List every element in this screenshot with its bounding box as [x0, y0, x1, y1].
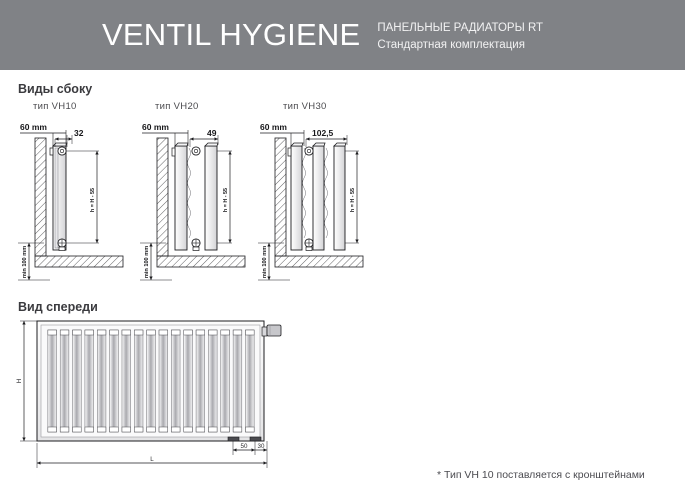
dimension-wall-gap-vh20 [142, 130, 188, 146]
header-subtitle-line-1: ПАНЕЛЬНЫЕ РАДИАТОРЫ RT [377, 20, 543, 37]
radiator-fin-top-cap [110, 330, 119, 335]
radiator-fin-top-cap [147, 330, 156, 335]
type-label-vh30: тип VH30 [283, 101, 327, 112]
dimension-length-front [37, 443, 267, 468]
dimension-label-depth-vh20: 49 [207, 128, 217, 138]
side-view-vh10: 60 mm 32 h = H - 55 min 100 mm [18, 122, 123, 280]
dimension-depth-vh30 [306, 135, 347, 147]
radiator-fin-top-cap [246, 330, 255, 335]
radiator-fin-top-cap [196, 330, 205, 335]
valve-connector [262, 325, 281, 336]
dimension-label-height-front: H [16, 379, 23, 383]
dimension-label-floor-gap-vh30: min 100 mm [262, 246, 268, 278]
radiator-fin [208, 330, 217, 432]
header-subtitle-line-2: Стандартная комплектация [377, 37, 543, 54]
dimension-wall-gap-vh30 [260, 130, 304, 146]
radiator-fin-bottom-cap [184, 427, 193, 432]
radiator-fin-bottom-cap [110, 427, 119, 432]
radiator-fin-top-cap [159, 330, 168, 335]
radiator-fin-top-cap [171, 330, 180, 335]
radiator-fin [73, 330, 82, 432]
radiator-fin-bottom-cap [221, 427, 230, 432]
radiator-fin-bottom-cap [73, 427, 82, 432]
front-view-heading: Вид спереди [18, 300, 98, 314]
radiator-fin-top-cap [184, 330, 193, 335]
radiator-fin-bottom-cap [147, 427, 156, 432]
radiator-fin-bottom-cap [246, 427, 255, 432]
radiator-fin-bottom-cap [171, 427, 180, 432]
radiator-fin-top-cap [97, 330, 106, 335]
radiator-fin [60, 330, 69, 432]
radiator-fin-bottom-cap [97, 427, 106, 432]
radiator-fin [196, 330, 205, 432]
page-header: VENTIL HYGIENE ПАНЕЛЬНЫЕ РАДИАТОРЫ RT Ст… [0, 0, 685, 70]
dimension-floor-gap-vh10 [18, 243, 50, 280]
type-label-vh20: тип VH20 [155, 101, 199, 112]
front-view-fins [48, 330, 254, 432]
footnote-text: * Тип VH 10 поставляется с кронштейнами [437, 469, 645, 481]
radiator-fin-bottom-cap [159, 427, 168, 432]
radiator-fin-bottom-cap [134, 427, 143, 432]
dimension-wall-gap-vh10 [20, 130, 66, 146]
radiator-panel-vh10 [50, 143, 67, 251]
dimension-label-wall-gap-vh10: 60 mm [20, 122, 47, 132]
dimension-label-height-vh30: h = H - 55 [350, 188, 356, 212]
radiator-fin-top-cap [73, 330, 82, 335]
radiator-fin [134, 330, 143, 432]
dimension-bottom-small [233, 441, 267, 455]
radiator-fin-top-cap [208, 330, 217, 335]
radiator-fin [48, 330, 57, 432]
dimension-depth-vh10 [55, 135, 72, 147]
dimension-label-wall-gap-vh20: 60 mm [142, 122, 169, 132]
technical-drawing: 60 mm 32 h = H - 55 min 100 mm [0, 0, 685, 500]
radiator-fin-top-cap [85, 330, 94, 335]
header-subtitle-block: ПАНЕЛЬНЫЕ РАДИАТОРЫ RT Стандартная компл… [377, 20, 543, 54]
wall-vh10 [35, 138, 123, 267]
radiator-fin-top-cap [221, 330, 230, 335]
dimension-height-vh30 [345, 151, 359, 243]
page-title: VENTIL HYGIENE [102, 18, 360, 52]
side-view-vh20: 60 mm 49 h = H - 55 min 100 mm [140, 122, 245, 280]
bottom-connections [228, 437, 261, 441]
radiator-fin-top-cap [48, 330, 57, 335]
dimension-label-length-front: L [150, 456, 154, 463]
radiator-fin [171, 330, 180, 432]
radiator-fin [221, 330, 230, 432]
dimension-label-floor-gap-vh20: min 100 mm [144, 246, 150, 278]
radiator-fin-bottom-cap [48, 427, 57, 432]
radiator-fin [159, 330, 168, 432]
radiator-fin-bottom-cap [233, 427, 242, 432]
dimension-label-bottom-30: 30 [258, 443, 265, 450]
dimension-label-depth-vh30: 102,5 [312, 128, 334, 138]
radiator-fin-top-cap [60, 330, 69, 335]
radiator-fin [246, 330, 255, 432]
radiator-fin-bottom-cap [208, 427, 217, 432]
radiator-panel-vh20 [172, 143, 218, 251]
radiator-fin [184, 330, 193, 432]
radiator-fin-top-cap [134, 330, 143, 335]
radiator-panel-vh30 [288, 143, 346, 251]
dimension-floor-gap-vh30 [258, 243, 290, 280]
wall-vh20 [157, 138, 245, 267]
side-views-heading: Виды сбоку [18, 82, 92, 96]
radiator-fin-bottom-cap [122, 427, 131, 432]
dimension-label-bottom-50: 50 [241, 443, 248, 450]
dimension-label-height-vh10: h = H - 55 [90, 188, 96, 212]
dimension-label-wall-gap-vh30: 60 mm [260, 122, 287, 132]
radiator-fin-bottom-cap [60, 427, 69, 432]
dimension-floor-gap-vh20 [140, 243, 172, 280]
dimension-depth-vh20 [190, 135, 218, 147]
dimension-height-vh20 [217, 151, 232, 243]
dimension-label-depth-vh10: 32 [74, 128, 84, 138]
wall-vh30 [275, 138, 363, 267]
front-view: H 50 30 L [16, 321, 281, 468]
radiator-fin [233, 330, 242, 432]
radiator-fin [110, 330, 119, 432]
side-view-vh30: 60 mm 102,5 h = H - 55 min 100 mm [258, 122, 363, 280]
radiator-fin [97, 330, 106, 432]
type-label-vh10: тип VH10 [33, 101, 77, 112]
dimension-label-height-vh20: h = H - 55 [223, 188, 229, 212]
header-content: VENTIL HYGIENE ПАНЕЛЬНЫЕ РАДИАТОРЫ RT Ст… [102, 18, 543, 54]
dimension-label-floor-gap-vh10: min 100 mm [22, 246, 28, 278]
radiator-fin [122, 330, 131, 432]
radiator-fin-bottom-cap [196, 427, 205, 432]
radiator-fin [147, 330, 156, 432]
radiator-fin-top-cap [233, 330, 242, 335]
radiator-fin [85, 330, 94, 432]
dimension-height-vh10 [66, 151, 99, 243]
dimension-height-front [20, 321, 38, 441]
radiator-fin-top-cap [122, 330, 131, 335]
radiator-fin-bottom-cap [85, 427, 94, 432]
